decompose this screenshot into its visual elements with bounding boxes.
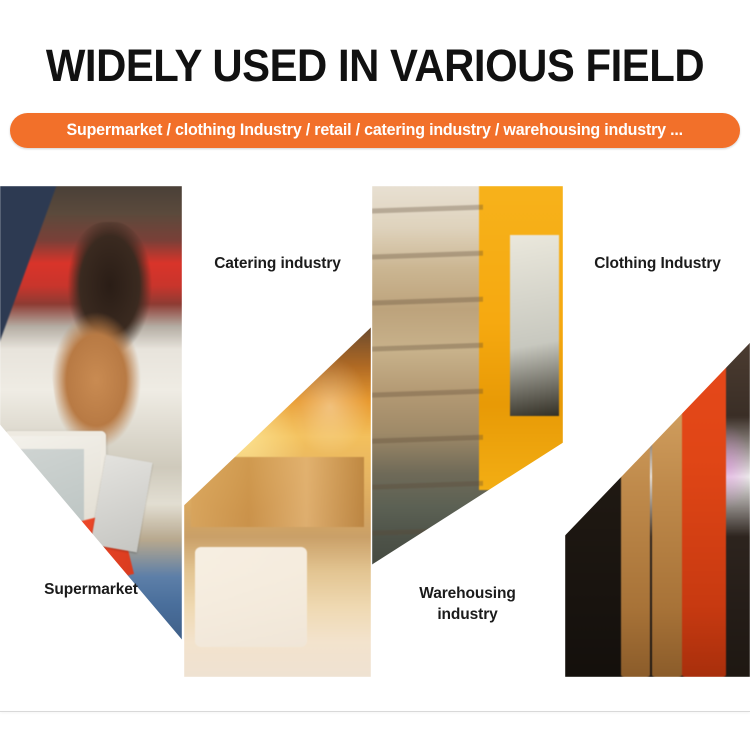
subtitle-text: Supermarket / clothing Industry / retail…	[67, 121, 683, 140]
panel-label-clothing: Clothing Industry	[565, 254, 750, 275]
industry-collage: Supermarket Catering industry Warehousin…	[0, 172, 750, 712]
panel-label-warehouse: Warehousing industry	[372, 584, 563, 626]
panel-catering	[184, 176, 371, 677]
panel-label-catering: Catering industry	[184, 254, 371, 275]
panel-label-line: industry	[372, 605, 563, 626]
panel-warehouse	[372, 186, 563, 597]
panel-label-line: Warehousing	[372, 584, 563, 605]
page-title: WIDELY USED IN VARIOUS FIELD	[26, 40, 724, 92]
panel-clothing	[565, 176, 750, 677]
promo-banner: WIDELY USED IN VARIOUS FIELD Supermarket…	[0, 0, 750, 750]
footer-divider	[0, 711, 750, 712]
subtitle-pill: Supermarket / clothing Industry / retail…	[10, 113, 740, 148]
panel-label-supermarket: Supermarket	[0, 580, 182, 601]
panel-supermarket	[0, 186, 182, 640]
product-box-shape	[91, 455, 153, 553]
